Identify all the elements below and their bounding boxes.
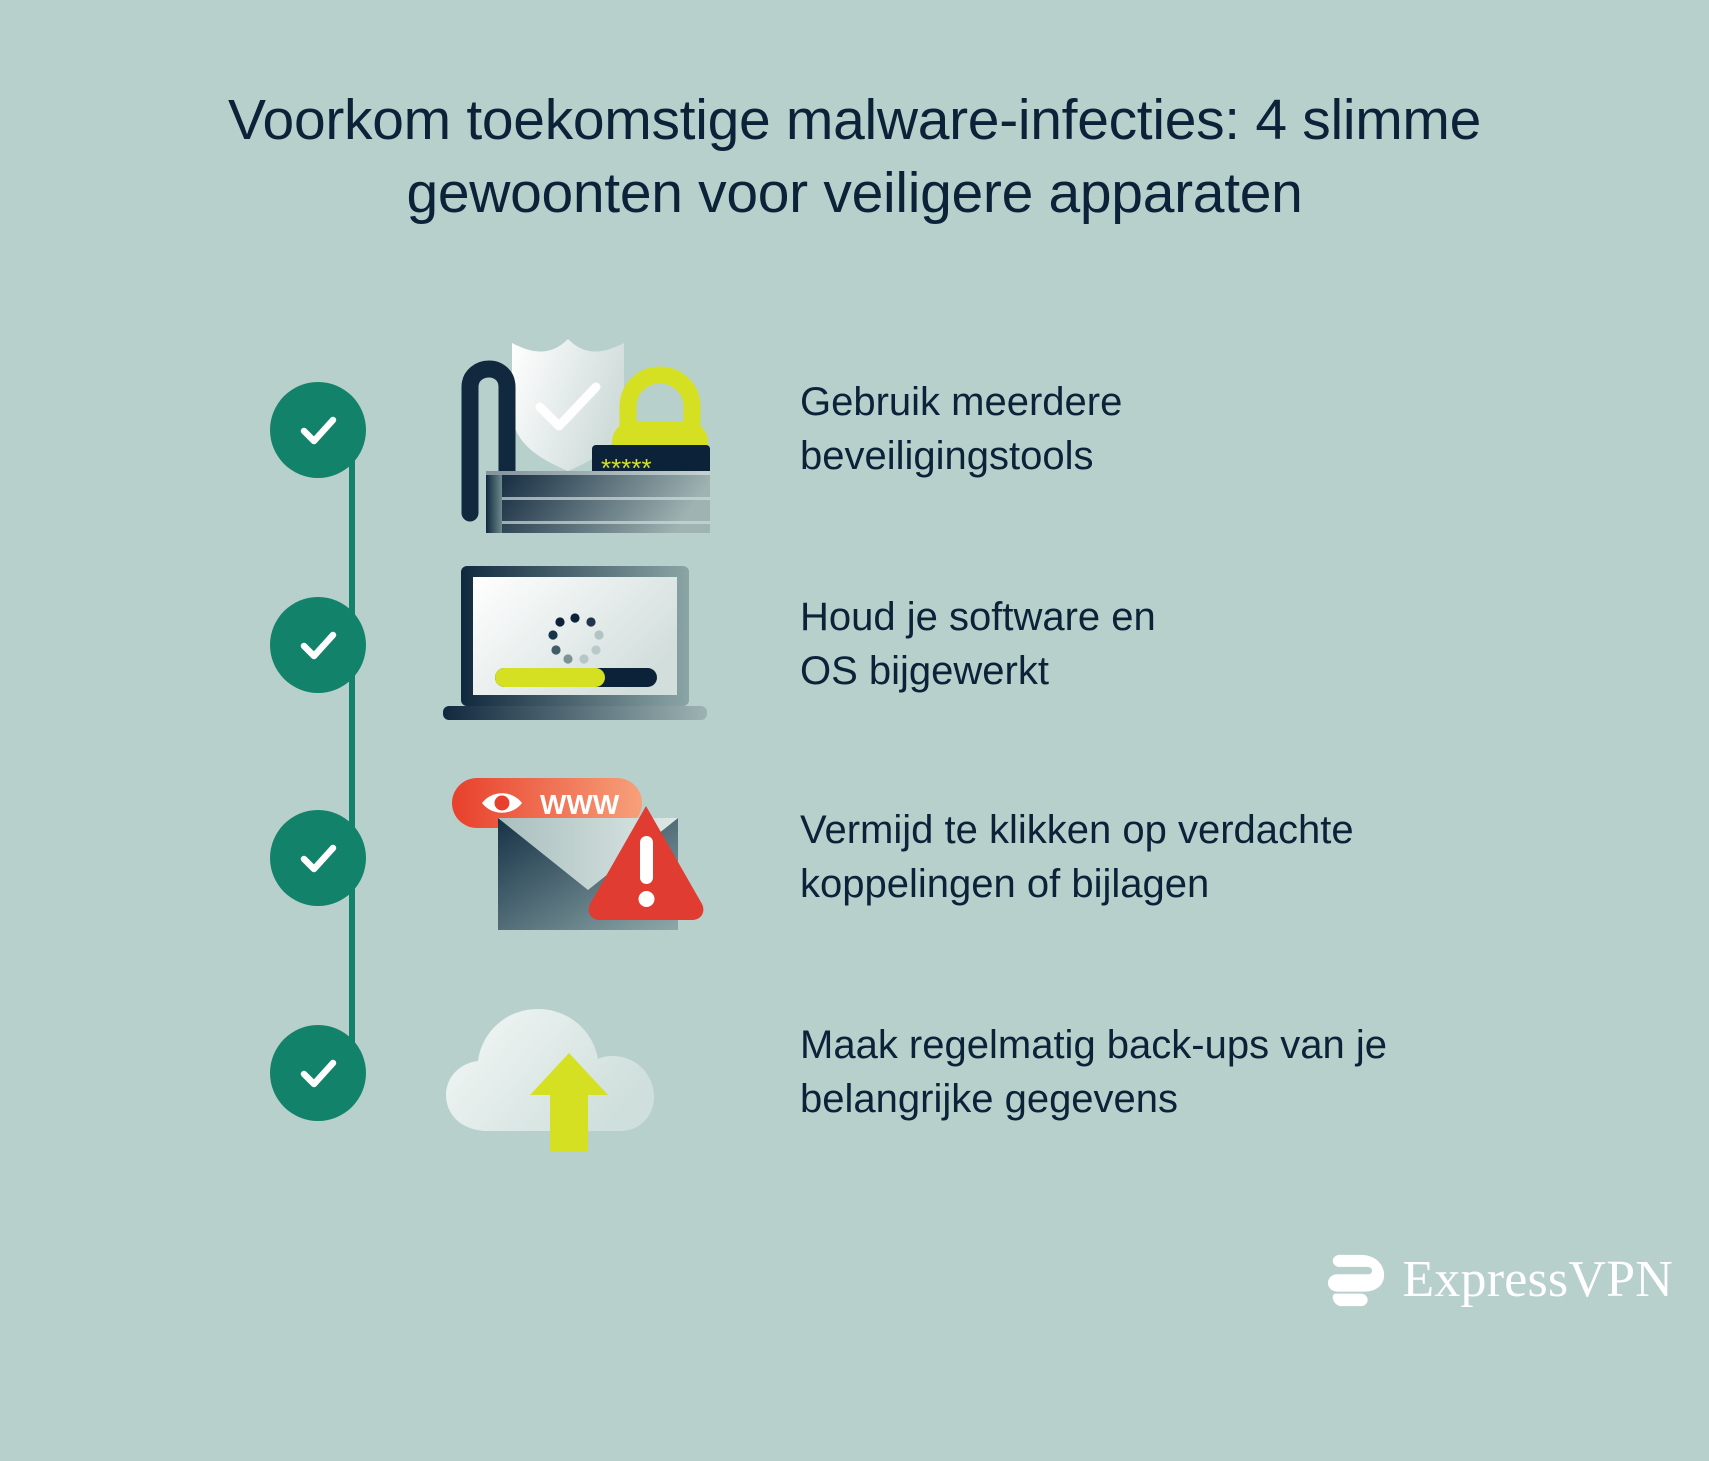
expressvpn-logo-mark xyxy=(1326,1249,1388,1311)
steps-list: ***** Gebruik meerdere beveiligingstools xyxy=(0,0,1709,1461)
check-icon xyxy=(292,1047,344,1099)
check-badge xyxy=(270,597,366,693)
cloud-upload-backup-icon xyxy=(430,973,720,1173)
step-label-line-1: Maak regelmatig back-ups van je xyxy=(800,1019,1530,1073)
laptop-update-icon xyxy=(430,545,720,745)
step-marker-3 xyxy=(270,810,430,906)
step-label-line-2: belangrijke gegevens xyxy=(800,1073,1530,1127)
progress-bar xyxy=(495,668,657,687)
step-marker-4 xyxy=(270,1025,430,1121)
step-label-line-2: koppelingen of bijlagen xyxy=(800,858,1530,912)
step-label: Houd je software en OS bijgewerkt xyxy=(720,591,1530,698)
check-icon xyxy=(292,832,344,884)
step-label-line-1: Gebruik meerdere xyxy=(800,376,1530,430)
list-item: ***** Gebruik meerdere beveiligingstools xyxy=(270,330,1530,530)
infographic-canvas: Voorkom toekomstige malware-infecties: 4… xyxy=(0,0,1709,1461)
check-badge xyxy=(270,1025,366,1121)
step-marker-2 xyxy=(270,597,430,693)
check-icon xyxy=(292,404,344,456)
step-label: Maak regelmatig back-ups van je belangri… xyxy=(720,1019,1530,1126)
logo-wordmark: ExpressVPN xyxy=(1402,1254,1673,1306)
url-chip-label: WWW xyxy=(540,789,620,820)
suspicious-email-warning-icon: WWW xyxy=(430,758,720,958)
step-label-line-2: beveiligingstools xyxy=(800,430,1530,484)
check-badge xyxy=(270,810,366,906)
step-label-line-2: OS bijgewerkt xyxy=(800,645,1530,699)
list-item: Houd je software en OS bijgewerkt xyxy=(270,545,1530,745)
list-item: Maak regelmatig back-ups van je belangri… xyxy=(270,973,1530,1173)
list-item: WWW Vermijd te klikken o xyxy=(270,758,1530,958)
check-badge xyxy=(270,382,366,478)
step-label-line-1: Vermijd te klikken op verdachte xyxy=(800,804,1530,858)
step-label: Vermijd te klikken op verdachte koppelin… xyxy=(720,804,1530,911)
expressvpn-logo: ExpressVPN xyxy=(1326,1249,1673,1311)
check-icon xyxy=(292,619,344,671)
step-marker-1 xyxy=(270,382,430,478)
toolbox-shield-padlock-icon: ***** xyxy=(430,330,720,530)
step-label: Gebruik meerdere beveiligingstools xyxy=(720,376,1530,483)
step-label-line-1: Houd je software en xyxy=(800,591,1530,645)
